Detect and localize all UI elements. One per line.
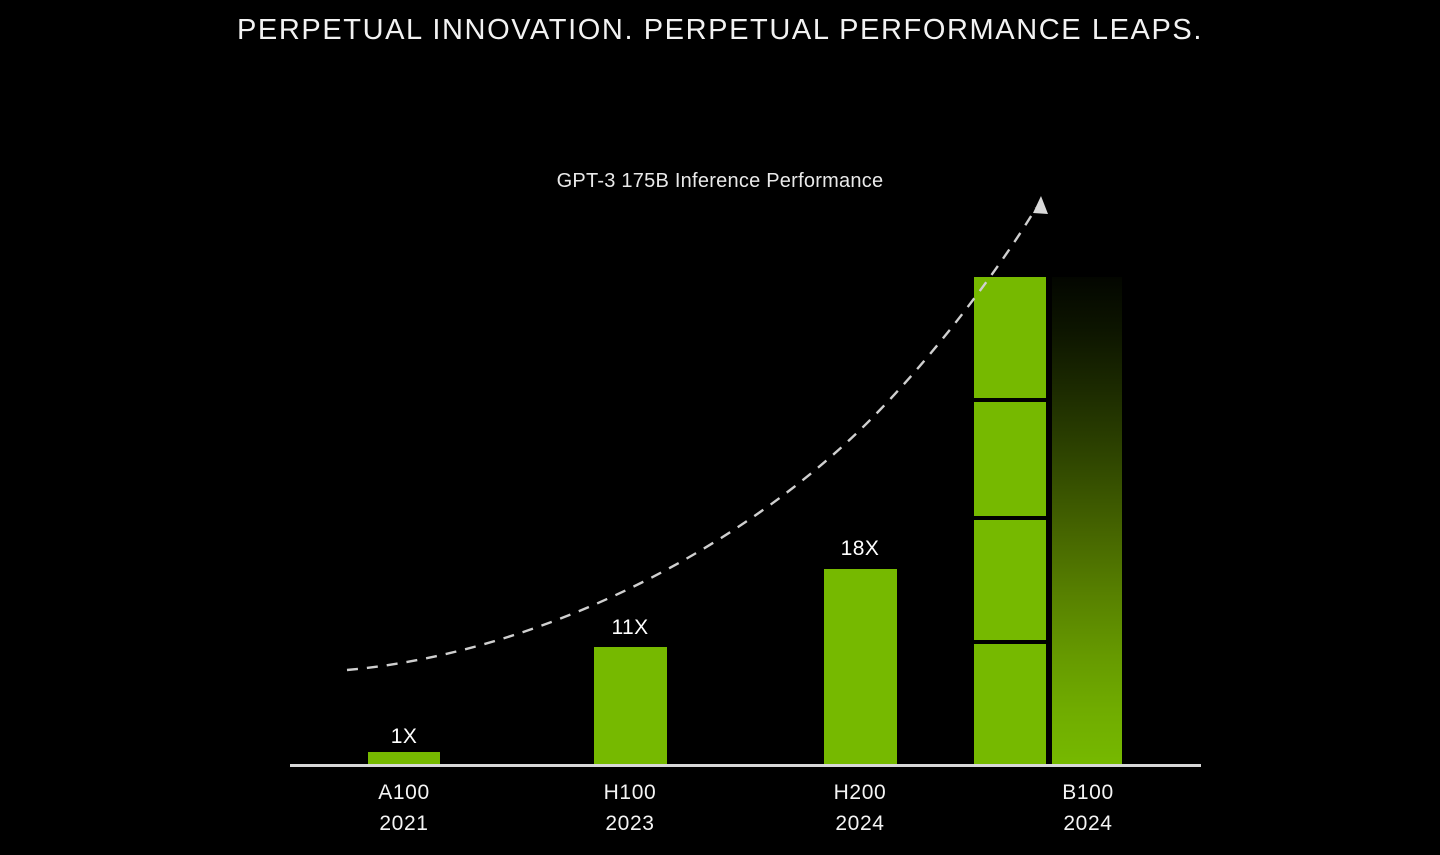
bar-b100-divider-1 [974, 398, 1046, 402]
bar-b100-divider-3 [974, 640, 1046, 644]
bar-b100-gradient-column [1052, 277, 1122, 764]
x-tick-year-h100: 2023 [560, 812, 700, 836]
x-tick-year-b100: 2024 [1018, 812, 1158, 836]
bar-h200[interactable] [824, 569, 897, 764]
bar-a100[interactable] [368, 752, 440, 764]
value-label-h100: 11X [580, 616, 680, 640]
bar-h100[interactable] [594, 647, 667, 764]
chart-plot-area: 1X 11X 18X A100 2021 H100 2023 H200 2024… [0, 0, 1440, 855]
x-tick-label-h200: H200 [790, 781, 930, 805]
x-axis-line [290, 764, 1201, 767]
x-tick-year-a100: 2021 [334, 812, 474, 836]
x-tick-year-h200: 2024 [790, 812, 930, 836]
slide-canvas: PERPETUAL INNOVATION. PERPETUAL PERFORMA… [0, 0, 1440, 855]
value-label-h200: 18X [810, 537, 910, 561]
x-tick-label-h100: H100 [560, 781, 700, 805]
bar-b100[interactable] [974, 277, 1046, 764]
bar-b100-divider-2 [974, 516, 1046, 520]
growth-trend-arrow [0, 0, 1440, 855]
value-label-a100: 1X [354, 725, 454, 749]
x-tick-label-a100: A100 [334, 781, 474, 805]
x-tick-label-b100: B100 [1018, 781, 1158, 805]
